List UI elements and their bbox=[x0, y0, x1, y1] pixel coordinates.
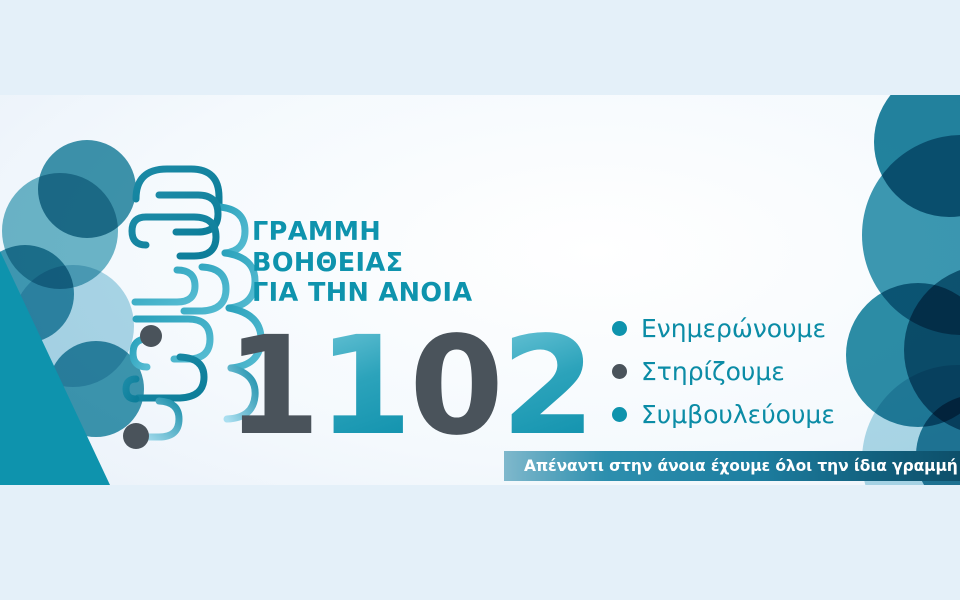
phone-digit: 1 bbox=[226, 319, 318, 455]
tagline-text: Απέναντι στην άνοια έχουμε όλοι την ίδια… bbox=[504, 457, 958, 475]
list-item: Συμβουλεύουμε bbox=[612, 393, 835, 436]
list-item-label: Στηρίζουμε bbox=[641, 359, 785, 384]
helpline-phone-number: 1 1 0 2 bbox=[226, 319, 593, 455]
bullet-dot-icon bbox=[612, 321, 627, 336]
services-list: Ενημερώνουμε Στηρίζουμε Συμβουλεύουμε bbox=[612, 307, 835, 436]
phone-digit: 0 bbox=[409, 319, 501, 455]
phone-digit: 1 bbox=[318, 319, 410, 455]
dementia-helpline-banner: ΓΡΑΜΜΗ ΒΟΗΘΕΙΑΣ ΓΙΑ ΤΗΝ ΑΝΟΙΑ 1 1 0 2 Εν… bbox=[0, 95, 960, 485]
headline-line-2: ΒΟΗΘΕΙΑΣ bbox=[252, 248, 502, 279]
list-item-label: Συμβουλεύουμε bbox=[641, 402, 835, 427]
phone-digit: 2 bbox=[501, 319, 593, 455]
page-title: ΓΡΑΜΜΗ ΒΟΗΘΕΙΑΣ ΓΙΑ ΤΗΝ ΑΝΟΙΑ bbox=[252, 217, 502, 309]
bullet-dot-icon bbox=[612, 407, 627, 422]
tagline-bar: Απέναντι στην άνοια έχουμε όλοι την ίδια… bbox=[504, 451, 960, 481]
bullet-dot-icon bbox=[612, 364, 627, 379]
headline-line-3: ΓΙΑ ΤΗΝ ΑΝΟΙΑ bbox=[252, 278, 502, 309]
list-item: Στηρίζουμε bbox=[612, 350, 835, 393]
list-item: Ενημερώνουμε bbox=[612, 307, 835, 350]
headline-line-1: ΓΡΑΜΜΗ bbox=[252, 217, 502, 248]
list-item-label: Ενημερώνουμε bbox=[641, 316, 826, 341]
